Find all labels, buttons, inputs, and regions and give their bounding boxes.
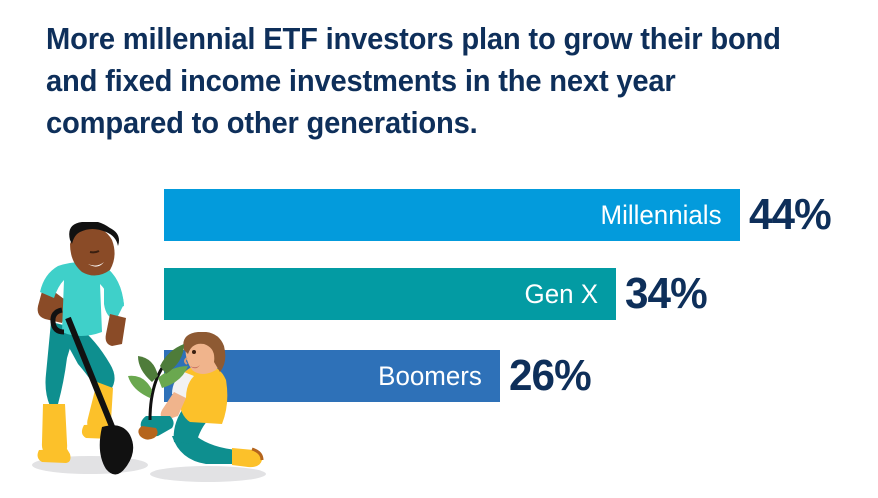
bar-value-gen-x: 34%	[625, 272, 707, 316]
bar-gen-x: Gen X	[164, 268, 616, 320]
bar-label-gen-x: Gen X	[525, 281, 598, 308]
bar-chart: Millennials 44% Gen X 34% Boomers 26%	[0, 0, 878, 498]
bar-boomers: Boomers	[164, 350, 500, 402]
bar-millennials: Millennials	[164, 189, 740, 241]
bar-row-gen-x: Gen X 34%	[164, 268, 710, 320]
bar-row-boomers: Boomers 26%	[164, 350, 594, 402]
bar-label-boomers: Boomers	[378, 363, 482, 390]
bar-value-boomers: 26%	[509, 354, 591, 398]
bar-row-millennials: Millennials 44%	[164, 189, 834, 241]
bar-value-millennials: 44%	[749, 193, 831, 237]
bar-label-millennials: Millennials	[600, 202, 721, 229]
